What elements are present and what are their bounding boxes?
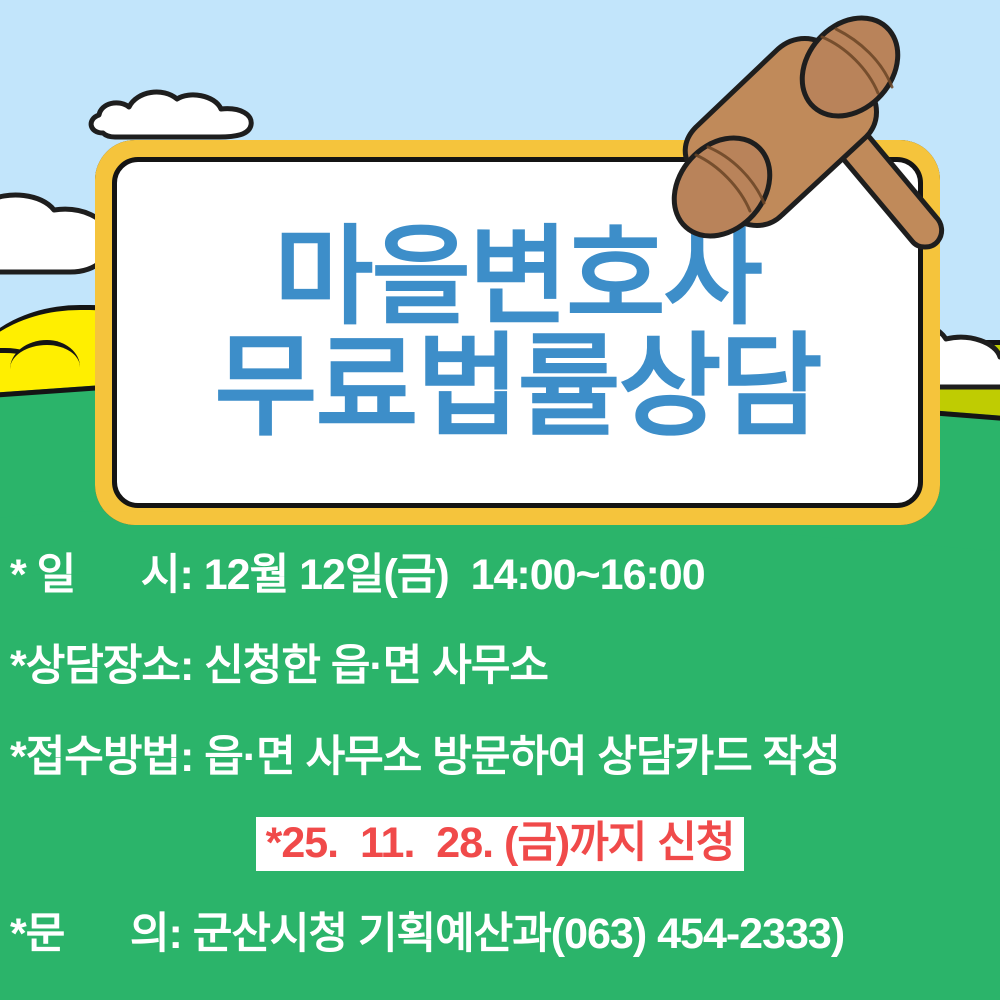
deadline-row: *25. 11. 28. (금)까지 신청 — [0, 817, 1000, 871]
info-line-application-method: *접수방법: 읍·면 사무소 방문하여 상담카드 작성 — [0, 736, 1000, 779]
info-line-location: *상담장소: 신청한 읍·면 사무소 — [0, 645, 1000, 688]
gavel-icon — [660, 5, 1000, 255]
deadline-highlight: *25. 11. 28. (금)까지 신청 — [256, 817, 745, 871]
cloud-icon-top-left — [85, 75, 285, 145]
info-block: * 일 시: 12월 12일(금) 14:00~16:00 *상담장소: 신청한… — [0, 528, 1000, 956]
title-line-2: 무료법률상담 — [214, 332, 820, 442]
info-line-contact: *문 의: 군산시청 기획예산과(063) 454-2333) — [0, 913, 1000, 956]
poster-root: 마을변호사 무료법률상담 * 일 시: 1 — [0, 0, 1000, 1000]
info-line-schedule: * 일 시: 12월 12일(금) 14:00~16:00 — [0, 554, 1000, 597]
